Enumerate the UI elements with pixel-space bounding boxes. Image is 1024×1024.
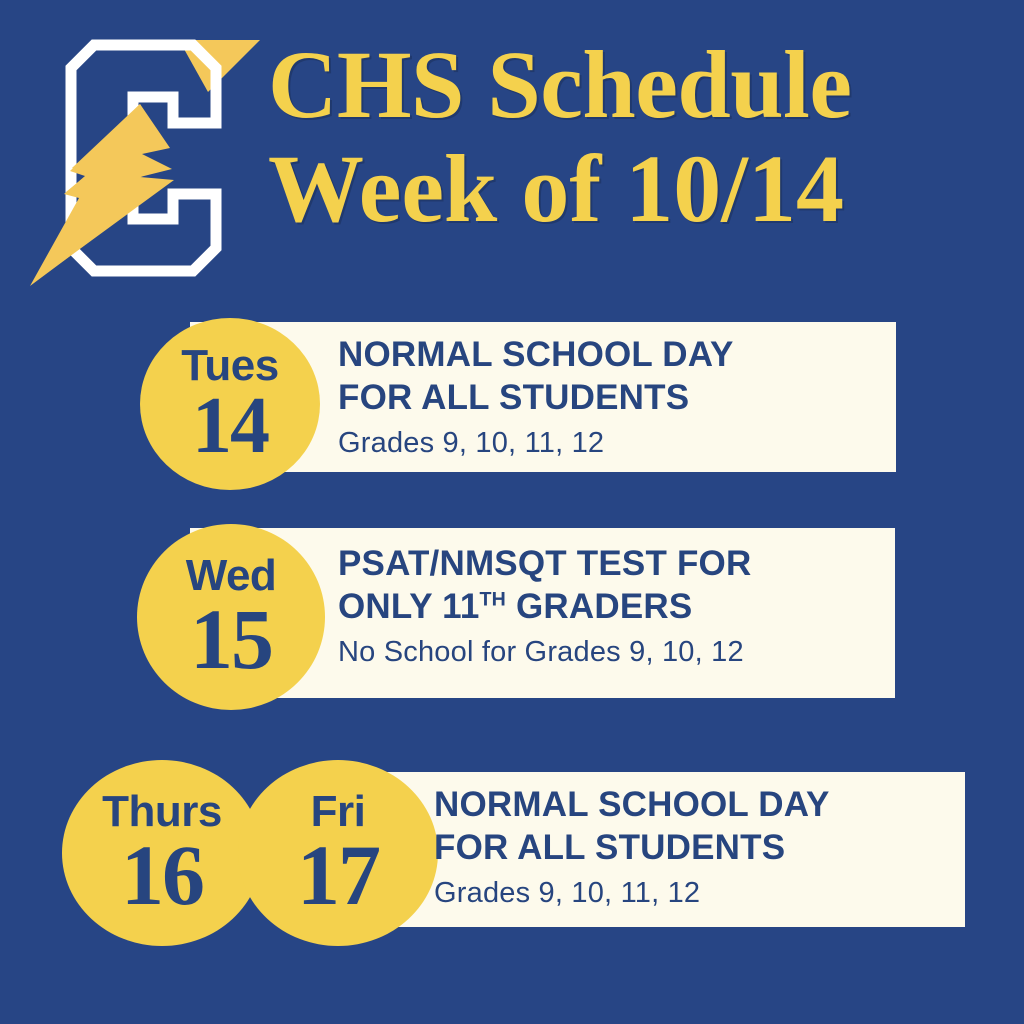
day-number: 17 [297, 836, 379, 915]
schedule-card-text: PSAT/NMSQT TEST FOR ONLY 11TH GRADERS No… [338, 543, 883, 671]
chs-lightning-c-logo [22, 28, 272, 288]
headline-line-1: NORMAL SCHOOL DAY [434, 785, 830, 824]
day-badge-fri-17: Fri 17 [238, 760, 438, 946]
title-line-2: Week of 10/14 [268, 138, 1008, 240]
title-line-1: CHS Schedule [268, 34, 1008, 136]
logo-lightning-bolt [30, 104, 174, 286]
poster-title: CHS Schedule Week of 10/14 [268, 34, 1008, 240]
poster-header: CHS Schedule Week of 10/14 [0, 0, 1024, 288]
schedule-card-text: NORMAL SCHOOL DAY FOR ALL STUDENTS Grade… [434, 784, 954, 912]
headline-line-2: FOR ALL STUDENTS [434, 828, 785, 867]
schedule-headline: NORMAL SCHOOL DAY FOR ALL STUDENTS [434, 784, 954, 869]
headline-line-2-post: GRADERS [506, 587, 692, 626]
schedule-subline: Grades 9, 10, 11, 12 [434, 875, 954, 911]
day-number: 14 [192, 390, 268, 464]
headline-line-2: FOR ALL STUDENTS [338, 378, 689, 417]
day-badge-tues-14: Tues 14 [140, 318, 320, 490]
schedule-poster: CHS Schedule Week of 10/14 Tues 14 NORMA… [0, 0, 1024, 1024]
day-number: 15 [190, 600, 272, 679]
schedule-headline: NORMAL SCHOOL DAY FOR ALL STUDENTS [338, 334, 883, 419]
headline-ordinal-suffix: TH [480, 588, 507, 610]
headline-line-1: PSAT/NMSQT TEST FOR [338, 544, 751, 583]
schedule-headline: PSAT/NMSQT TEST FOR ONLY 11TH GRADERS [338, 543, 883, 628]
schedule-subline: Grades 9, 10, 11, 12 [338, 425, 883, 461]
headline-line-1: NORMAL SCHOOL DAY [338, 335, 734, 374]
day-badge-wed-15: Wed 15 [137, 524, 325, 710]
schedule-subline: No School for Grades 9, 10, 12 [338, 634, 883, 670]
headline-line-2-pre: ONLY 11 [338, 587, 480, 626]
day-badge-thurs-16: Thurs 16 [62, 760, 262, 946]
day-number: 16 [121, 836, 203, 915]
schedule-card-text: NORMAL SCHOOL DAY FOR ALL STUDENTS Grade… [338, 334, 883, 462]
